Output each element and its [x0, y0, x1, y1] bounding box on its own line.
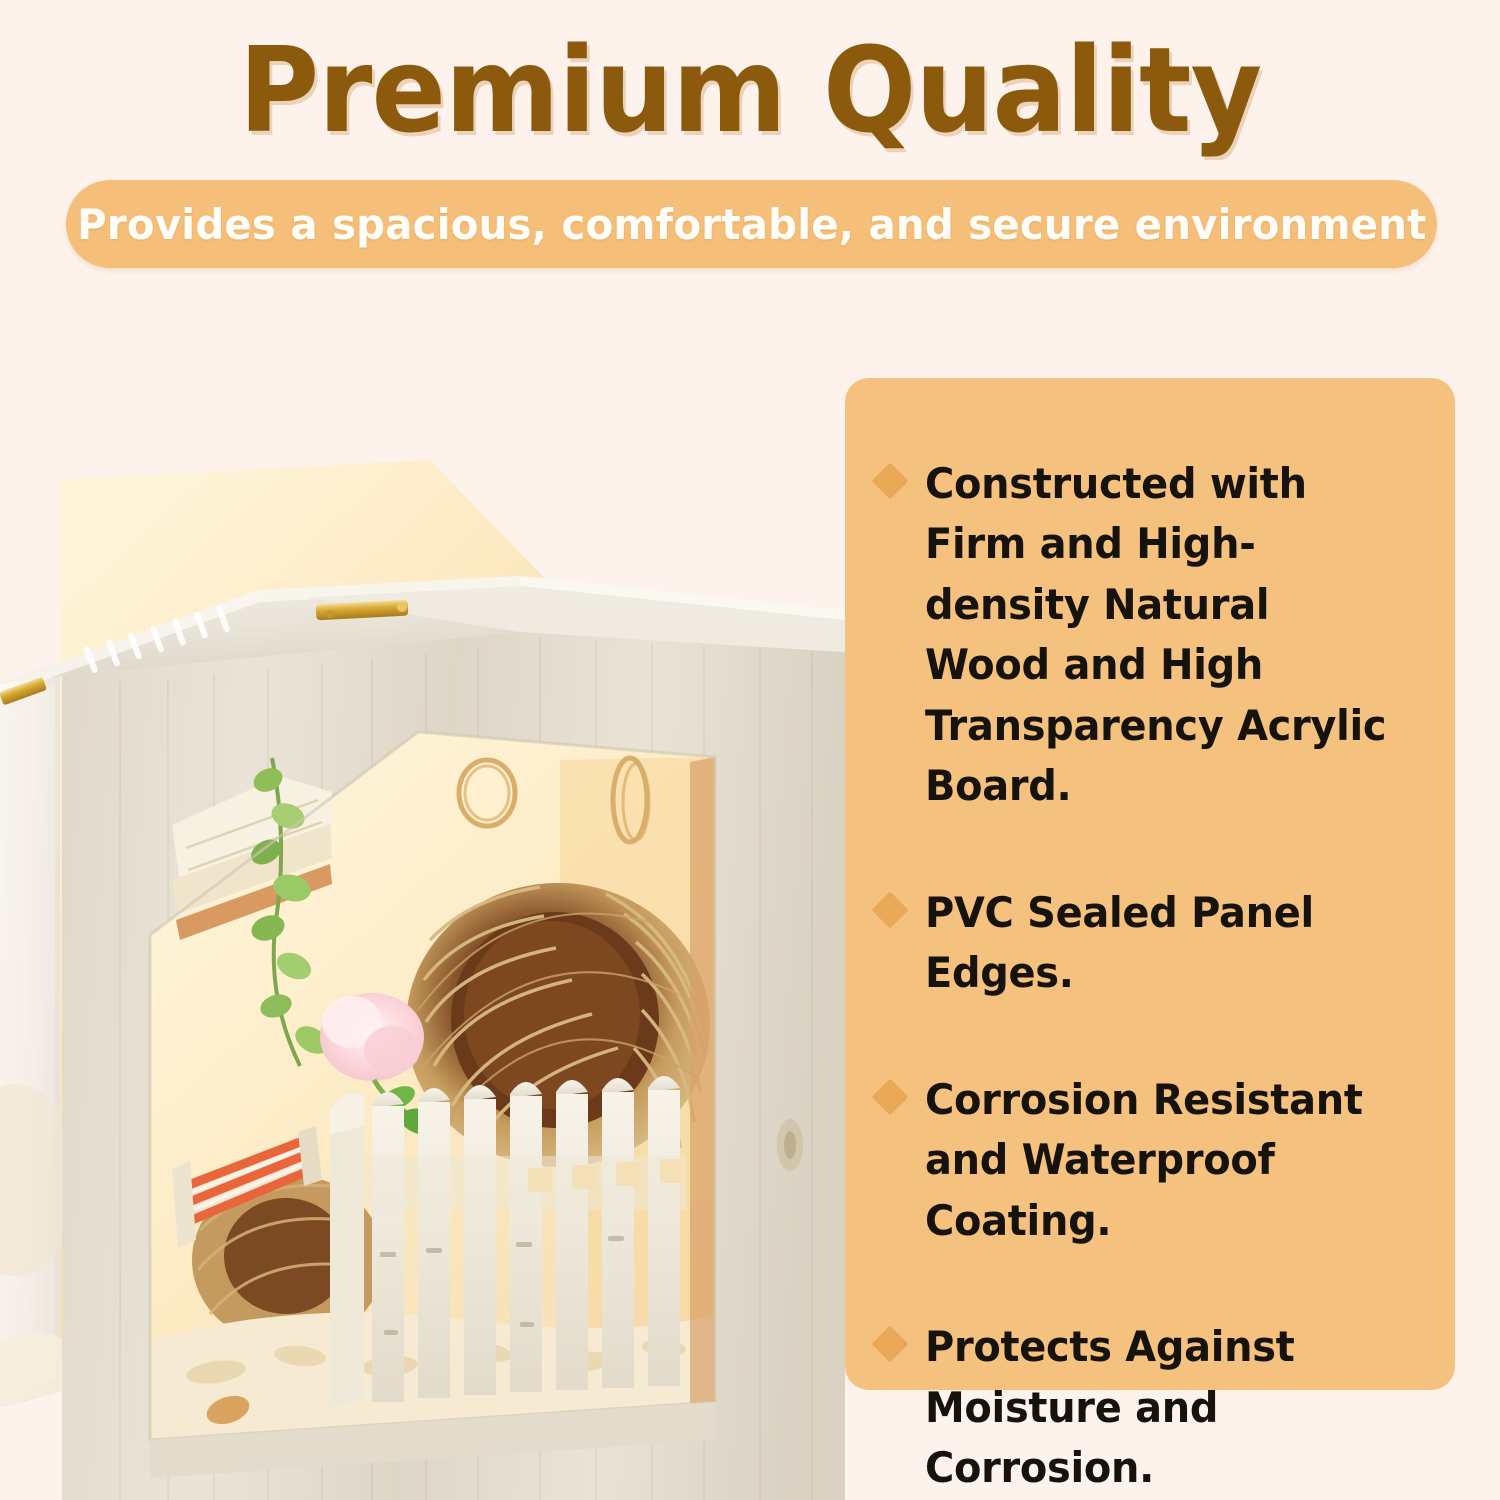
- page-title: Premium Quality: [53, 28, 1448, 153]
- feature-item: Constructed with Firm and High-density N…: [863, 454, 1427, 817]
- feature-item: PVC Sealed Panel Edges.: [863, 883, 1427, 1004]
- marketing-infographic: Premium Quality Provides a spacious, com…: [0, 0, 1500, 1500]
- feature-text: Corrosion Resistant and Waterproof Coati…: [925, 1070, 1402, 1251]
- diamond-bullet-icon: [872, 1078, 909, 1115]
- feature-item: Protects Against Moisture and Corrosion.: [863, 1317, 1427, 1498]
- diamond-bullet-icon: [872, 463, 909, 500]
- subtitle-text: Provides a spacious, comfortable, and se…: [77, 200, 1426, 249]
- product-photo: [0, 280, 845, 1500]
- diamond-bullet-icon: [872, 1326, 909, 1363]
- diamond-bullet-icon: [872, 891, 909, 928]
- feature-text: PVC Sealed Panel Edges.: [925, 883, 1402, 1004]
- viewing-window: [150, 732, 715, 1440]
- interior-right-wall: [690, 757, 715, 1404]
- feature-list-panel: Constructed with Firm and High-density N…: [845, 378, 1455, 1390]
- feature-text: Constructed with Firm and High-density N…: [925, 454, 1402, 817]
- feature-text: Protects Against Moisture and Corrosion.: [925, 1317, 1402, 1498]
- feature-item: Corrosion Resistant and Waterproof Coati…: [863, 1070, 1427, 1251]
- subtitle-banner: Provides a spacious, comfortable, and se…: [66, 180, 1437, 268]
